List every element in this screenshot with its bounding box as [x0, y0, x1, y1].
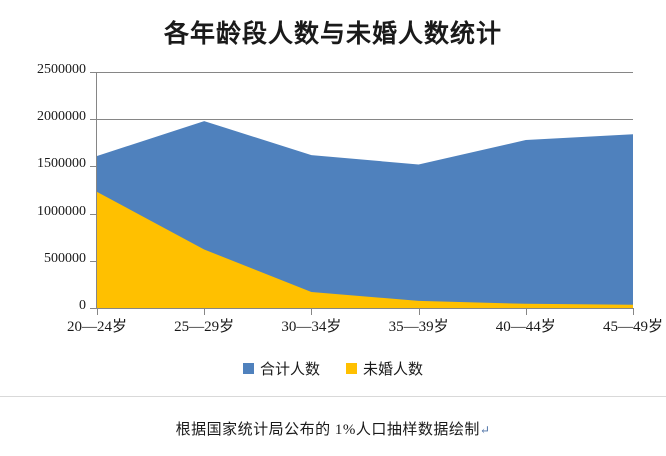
x-axis-tick-label: 25—29岁 — [144, 318, 264, 336]
y-axis-tick-label: 0 — [2, 299, 86, 313]
legend-swatch-unmarried — [346, 363, 357, 374]
y-axis-tick-label: 2000000 — [2, 110, 86, 124]
legend-item-total[interactable]: 合计人数 — [243, 358, 320, 379]
x-axis-tick-label: 45—49岁 — [573, 318, 666, 336]
plot-wrapper: 05000001000000150000020000002500000 20—2… — [0, 0, 666, 340]
caption: 根据国家统计局公布的 1%人口抽样数据绘制↵ — [0, 418, 666, 439]
legend-swatch-total — [243, 363, 254, 374]
chart-container: 各年龄段人数与未婚人数统计 05000001000000150000020000… — [0, 0, 666, 396]
legend-item-unmarried[interactable]: 未婚人数 — [346, 358, 423, 379]
y-axis-tick-label: 500000 — [2, 252, 86, 266]
y-axis-tick-mark — [90, 214, 96, 215]
x-axis-tick-mark — [97, 309, 98, 315]
y-axis-tick-mark — [90, 308, 96, 309]
area-chart-svg — [97, 72, 633, 308]
y-axis-labels: 05000001000000150000020000002500000 — [0, 0, 86, 340]
paragraph-mark: ↵ — [480, 423, 491, 437]
x-axis-tick-label: 20—24岁 — [37, 318, 157, 336]
y-axis-tick-label: 2500000 — [2, 63, 86, 77]
y-axis-tick-label: 1500000 — [2, 157, 86, 171]
caption-text: 根据国家统计局公布的 1%人口抽样数据绘制 — [176, 422, 480, 438]
x-axis-tick-label: 35—39岁 — [359, 318, 479, 336]
legend-label-unmarried: 未婚人数 — [363, 358, 423, 379]
x-axis-tick-label: 40—44岁 — [466, 318, 586, 336]
x-axis-tick-mark — [526, 309, 527, 315]
x-axis-tick-mark — [633, 309, 634, 315]
x-axis-tick-mark — [419, 309, 420, 315]
y-axis-tick-mark — [90, 72, 96, 73]
y-axis-tick-mark — [90, 119, 96, 120]
plot-area — [97, 72, 633, 308]
y-axis-tick-label: 1000000 — [2, 205, 86, 219]
chart-legend: 合计人数 未婚人数 — [0, 358, 666, 379]
x-axis-line — [96, 308, 634, 309]
caption-divider — [0, 396, 666, 397]
y-axis-tick-mark — [90, 166, 96, 167]
x-axis-tick-mark — [311, 309, 312, 315]
y-axis-tick-mark — [90, 261, 96, 262]
x-axis-tick-label: 30—34岁 — [251, 318, 371, 336]
x-axis-tick-mark — [204, 309, 205, 315]
legend-label-total: 合计人数 — [260, 358, 320, 379]
